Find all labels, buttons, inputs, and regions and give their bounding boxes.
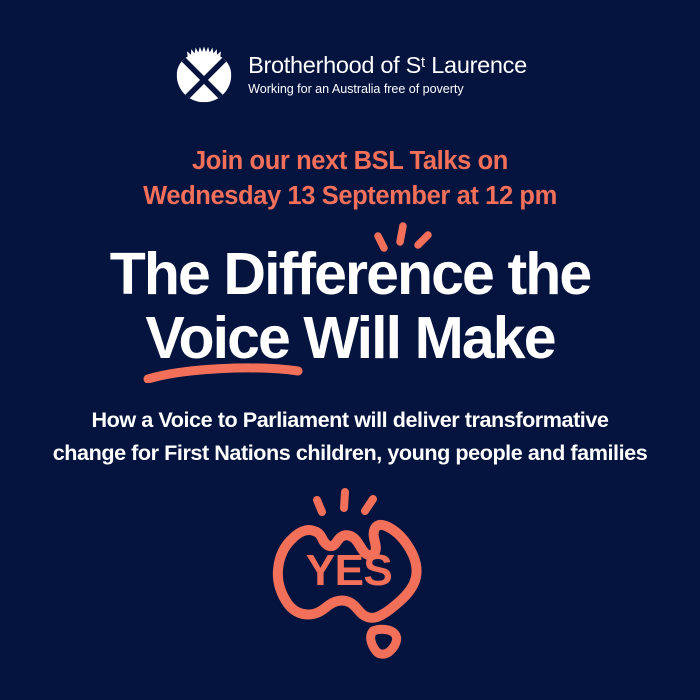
australia-yes-graphic: YES — [0, 482, 700, 662]
event-details-block: Join our next BSL Talks on Wednesday 13 … — [0, 144, 700, 214]
brand-name: Brotherhood of St Laurence — [248, 53, 527, 78]
brotherhood-of-st-laurence-cross-circle-logo — [173, 44, 235, 106]
spark-burst-icon — [317, 492, 373, 512]
brand-wordmark: Brotherhood of St Laurence Working for a… — [248, 51, 527, 99]
tasmania-outline-icon — [371, 629, 397, 654]
subtitle-line-2: change for First Nations children, young… — [0, 437, 700, 470]
headline-block: The Difference the Voice Will Make — [0, 243, 700, 370]
poster-canvas: Brotherhood of St Laurence Working for a… — [0, 0, 700, 700]
brand-logo-inner: Brotherhood of St Laurence Working for a… — [173, 44, 527, 106]
headline-line-1-wrapper: The Difference the — [0, 243, 700, 307]
event-line-2: Wednesday 13 September at 12 pm — [0, 179, 700, 214]
headline-line-2-wrapper: Voice Will Make — [0, 307, 700, 371]
brand-logo-block: Brotherhood of St Laurence Working for a… — [0, 44, 700, 106]
australia-map-outline-icon: YES — [255, 482, 445, 662]
headline-line-1: The Difference the — [110, 241, 591, 307]
headline-line-2: Voice Will Make — [145, 305, 554, 371]
event-line-1: Join our next BSL Talks on — [0, 144, 700, 179]
brand-name-post: Laurence — [425, 52, 527, 78]
brand-name-pre: Brotherhood of S — [248, 52, 421, 78]
brand-tagline: Working for an Australia free of poverty — [248, 80, 527, 99]
subtitle-block: How a Voice to Parliament will deliver t… — [0, 404, 700, 470]
subtitle-line-1: How a Voice to Parliament will deliver t… — [0, 404, 700, 437]
yes-label: YES — [306, 546, 393, 595]
